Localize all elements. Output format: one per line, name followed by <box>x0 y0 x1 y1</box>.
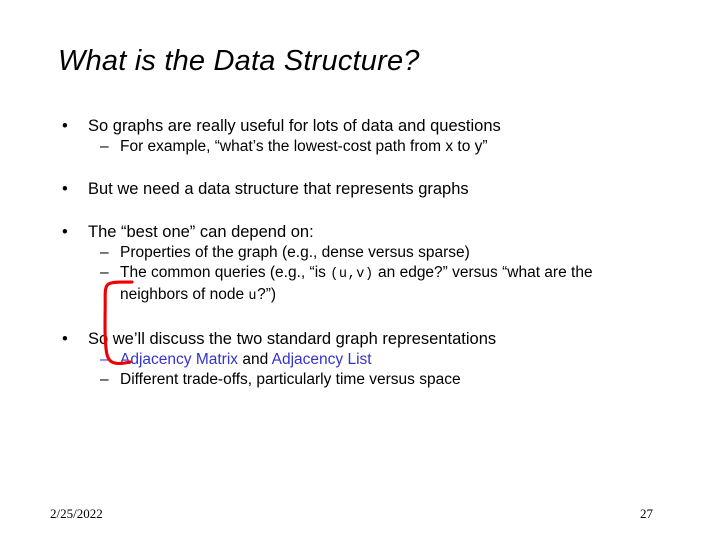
links-conjunction-text: and <box>238 351 272 368</box>
bullet-level1-text: So graphs are really useful for lots of … <box>88 117 501 135</box>
bullet-level1-two-representations: • So we’ll discuss the two standard grap… <box>58 329 658 350</box>
link-adjacency-list[interactable]: Adjacency List <box>272 351 372 368</box>
slide-canvas: What is the Data Structure? • So graphs … <box>0 0 720 540</box>
bullet-level2-trade-offs: – Different trade-offs, particularly tim… <box>58 370 658 390</box>
code-edge-pair: (u,v) <box>330 267 374 282</box>
page-title: What is the Data Structure? <box>58 45 420 78</box>
bullet-level2-text: Properties of the graph (e.g., dense ver… <box>120 244 470 261</box>
spacer <box>58 157 658 179</box>
query-suffix-text: ?”) <box>257 286 276 303</box>
slide-body: • So graphs are really useful for lots o… <box>58 116 658 390</box>
bullet-block-1: • So graphs are really useful for lots o… <box>58 116 658 157</box>
bullet-level1-need-data-structure: • But we need a data structure that repr… <box>58 179 658 200</box>
bullet-level2-common-queries: – The common queries (e.g., “is (u,v) an… <box>58 263 658 307</box>
query-prefix-text: The common queries (e.g., “is <box>120 264 330 281</box>
spacer <box>58 200 658 222</box>
bullet-level1-text: But we need a data structure that repres… <box>88 180 469 198</box>
dash-icon: – <box>100 370 109 390</box>
code-node-u: u <box>248 289 257 304</box>
bullet-level1-best-one-depends: • The “best one” can depend on: <box>58 222 658 243</box>
spacer <box>58 307 658 329</box>
bullet-level2-properties-of-graph: – Properties of the graph (e.g., dense v… <box>58 243 658 263</box>
dash-icon: – <box>100 137 109 157</box>
dash-icon: – <box>100 350 109 370</box>
footer-date: 2/25/2022 <box>50 506 103 522</box>
bullet-level2-lowest-cost-path: – For example, “what’s the lowest-cost p… <box>58 137 658 157</box>
bullet-level1-graphs-useful: • So graphs are really useful for lots o… <box>58 116 658 137</box>
dash-icon: – <box>100 243 109 263</box>
bullet-level2-text: Different trade-offs, particularly time … <box>120 371 461 388</box>
bullet-dot-icon: • <box>62 179 68 200</box>
bullet-dot-icon: • <box>62 329 68 350</box>
bullet-block-2: • But we need a data structure that repr… <box>58 179 658 200</box>
bullet-level2-text: For example, “what’s the lowest-cost pat… <box>120 138 488 155</box>
bullet-level2-representation-links: –Adjacency Matrix and Adjacency List <box>58 350 658 370</box>
link-adjacency-matrix[interactable]: Adjacency Matrix <box>120 351 238 368</box>
bullet-block-3: • The “best one” can depend on: – Proper… <box>58 222 658 307</box>
bullet-dot-icon: • <box>62 222 68 243</box>
dash-icon: – <box>100 263 109 283</box>
bullet-level1-text: So we’ll discuss the two standard graph … <box>88 330 496 348</box>
footer-page-number: 27 <box>640 506 653 522</box>
bullet-dot-icon: • <box>62 116 68 137</box>
bullet-block-4: • So we’ll discuss the two standard grap… <box>58 329 658 390</box>
bullet-level1-text: The “best one” can depend on: <box>88 223 314 241</box>
